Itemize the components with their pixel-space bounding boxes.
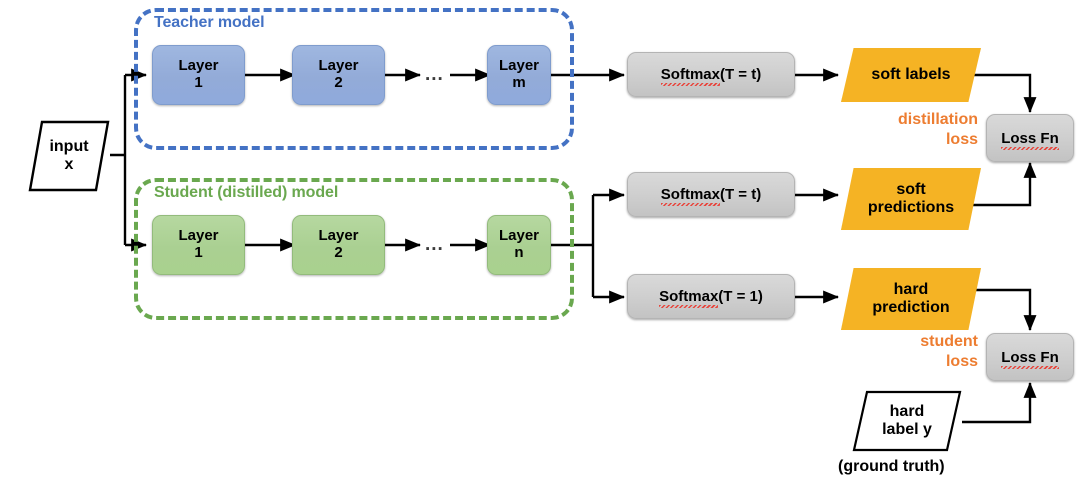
distillation-loss-fn-label: Loss Fn <box>1001 130 1059 147</box>
teacher-layer-2-line2: 2 <box>334 75 342 92</box>
teacher-layer-1-line2: 1 <box>194 75 202 92</box>
student-loss-line1: student <box>878 332 978 352</box>
teacher-layer-1: Layer 1 <box>152 45 245 105</box>
student-loss-fn-label: Loss Fn <box>1001 349 1059 366</box>
teacher-layer-1-line1: Layer <box>178 58 218 75</box>
teacher-layer-m-line2: m <box>512 75 525 92</box>
soft-predictions-line2: predictions <box>868 199 954 217</box>
hard-prediction-line1: hard <box>894 281 929 299</box>
wire-soft-labels-to-loss-top <box>968 75 1030 112</box>
soft-predictions-line1: soft <box>896 181 925 199</box>
student-layer-n: Layer n <box>487 215 551 275</box>
teacher-layer-2-line1: Layer <box>318 58 358 75</box>
wire-hard-label-to-loss-bottom <box>950 383 1030 422</box>
hard-label-line2: label y <box>882 421 932 439</box>
hard-prediction-node: hard prediction <box>841 268 981 330</box>
hard-label-node: hard label y <box>852 390 962 452</box>
hard-label-line1: hard <box>882 403 932 421</box>
student-layer-1-line1: Layer <box>178 228 218 245</box>
diagram-canvas: input x Teacher model Layer 1 Layer 2 ..… <box>0 0 1080 488</box>
teacher-layer-2: Layer 2 <box>292 45 385 105</box>
softmax-student-hard-temp-label: (T = 1) <box>718 288 763 305</box>
input-label-line1: input <box>49 138 88 156</box>
teacher-layer-m: Layer m <box>487 45 551 105</box>
student-layer-2: Layer 2 <box>292 215 385 275</box>
soft-predictions-node: soft predictions <box>841 168 981 230</box>
input-node: input x <box>28 120 110 192</box>
student-loss-fn-box: Loss Fn <box>986 333 1074 381</box>
softmax-student-soft-box: Softmax (T = t) <box>627 172 795 217</box>
student-model-title: Student (distilled) model <box>154 184 338 202</box>
ground-truth-note: (ground truth) <box>838 458 945 476</box>
softmax-student-soft-bold-label: Softmax <box>661 186 720 203</box>
soft-labels-node: soft labels <box>841 48 981 102</box>
student-layer-n-line2: n <box>514 245 523 262</box>
student-loss-line2: loss <box>878 352 978 372</box>
student-loss-label: student loss <box>878 332 978 372</box>
student-layer-2-line2: 2 <box>334 245 342 262</box>
softmax-teacher-temp-label: (T = t) <box>720 66 761 83</box>
student-layer-2-line1: Layer <box>318 228 358 245</box>
student-layers-ellipsis: ... <box>425 234 444 256</box>
soft-labels-label: soft labels <box>871 66 950 84</box>
distillation-loss-label: distillation loss <box>858 110 978 150</box>
hard-prediction-line2: prediction <box>872 299 949 317</box>
distillation-loss-line1: distillation <box>858 110 978 130</box>
student-layer-n-line1: Layer <box>499 228 539 245</box>
teacher-layers-ellipsis: ... <box>425 64 444 86</box>
distillation-loss-line2: loss <box>858 130 978 150</box>
softmax-student-soft-temp-label: (T = t) <box>720 186 761 203</box>
softmax-teacher-bold-label: Softmax <box>661 66 720 83</box>
teacher-layer-m-line1: Layer <box>499 58 539 75</box>
softmax-student-hard-box: Softmax (T = 1) <box>627 274 795 319</box>
softmax-teacher-box: Softmax (T = t) <box>627 52 795 97</box>
input-label-line2: x <box>49 156 88 174</box>
student-layer-1-line2: 1 <box>194 245 202 262</box>
distillation-loss-fn-box: Loss Fn <box>986 114 1074 162</box>
teacher-model-title: Teacher model <box>154 14 264 32</box>
student-layer-1: Layer 1 <box>152 215 245 275</box>
softmax-student-hard-bold-label: Softmax <box>659 288 718 305</box>
